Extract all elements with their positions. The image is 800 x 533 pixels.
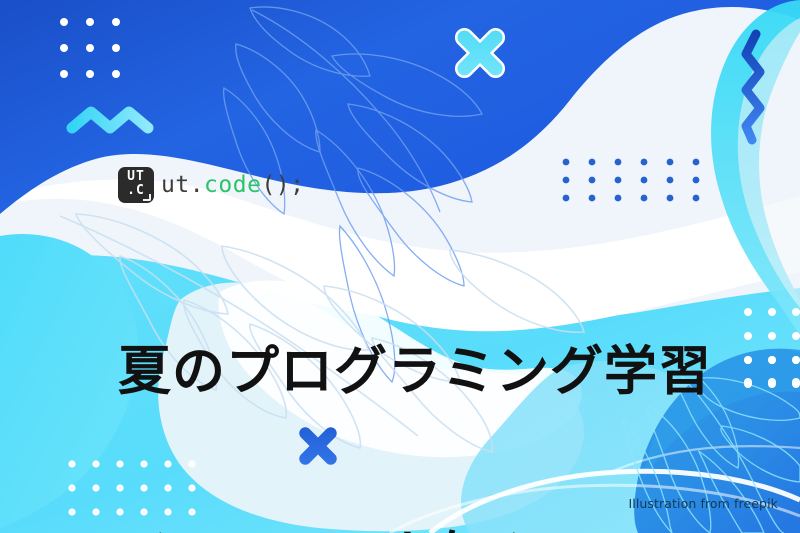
banner-text-block: UT .C ut.code(); 夏のプログラミング学習 イベントのお知らせ <box>118 165 758 533</box>
page-title-line-1: 夏のプログラミング学習 <box>118 341 758 403</box>
brand-suffix: (); <box>261 172 304 198</box>
brand-wordmark: ut.code(); <box>161 172 304 198</box>
logo-corner-mark <box>143 194 151 201</box>
utcode-logo-icon: UT .C <box>118 167 154 203</box>
page-title: 夏のプログラミング学習 イベントのお知らせ <box>118 217 758 533</box>
illustration-credit: Illustration from freepik <box>628 496 778 511</box>
brand-lockup: UT .C ut.code(); <box>118 165 758 205</box>
page-title-line-2: イベントのお知らせ <box>118 527 758 533</box>
brand-prefix: ut. <box>161 172 204 198</box>
event-banner: UT .C ut.code(); 夏のプログラミング学習 イベントのお知らせ I… <box>0 0 800 533</box>
brand-accent: code <box>204 172 261 198</box>
logo-top-text: UT <box>118 170 154 184</box>
